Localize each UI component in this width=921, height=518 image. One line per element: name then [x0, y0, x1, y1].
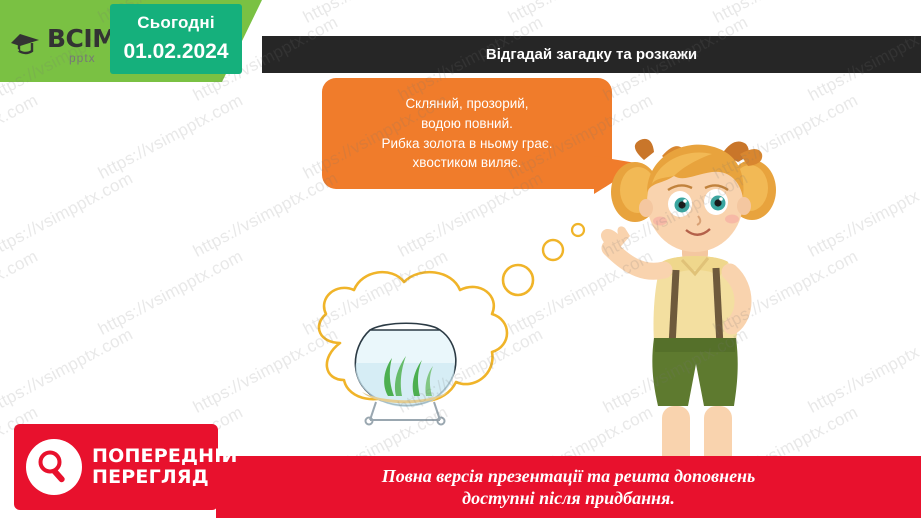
magnifier-icon [26, 439, 82, 495]
footer-line-1: Повна версія презентації та решта доповн… [382, 465, 756, 488]
watermark-text: https://vsimpptx.com [300, 0, 451, 28]
today-label: Сьогодні [110, 13, 242, 33]
logo-text: BCIM [47, 24, 117, 53]
watermark-text: https://vsimpptx.com [505, 0, 656, 28]
today-date-box: Сьогодні 01.02.2024 [110, 4, 242, 74]
page-title: Відгадай загадку та розкажи [486, 46, 697, 63]
thought-dots-icon [498, 218, 608, 308]
today-date-value: 01.02.2024 [110, 40, 242, 64]
riddle-text: Скляний, прозорий, водою повний. Рибка з… [382, 94, 553, 172]
preview-badge-line-1: ПОПЕРЕДНІЙ [92, 445, 238, 467]
preview-badge-line-2: ПЕРЕГЛЯД [92, 466, 209, 488]
watermark-text: https://vsimpptx.com [710, 0, 861, 28]
watermark-text: https://vsimpptx.com [805, 168, 921, 261]
watermark-text: https://vsimpptx.com [95, 246, 246, 339]
riddle-speech-bubble: Скляний, прозорий, водою повний. Рибка з… [322, 78, 612, 189]
slide-title-bar: Відгадай загадку та розкажи [262, 36, 921, 73]
logo-cap-icon [6, 30, 42, 60]
thought-cloud [280, 248, 580, 453]
footer-line-2: доступні після придбання. [462, 487, 675, 510]
watermark-text: https://vsimpptx.com [0, 168, 136, 261]
watermark-text: https://vsimpptx.com [0, 90, 41, 183]
preview-badge[interactable]: ПОПЕРЕДНІЙ ПЕРЕГЛЯД [14, 424, 218, 510]
footer-bar: Повна версія презентації та решта доповн… [216, 456, 921, 518]
fishbowl-illustration [340, 308, 470, 428]
site-logo[interactable]: BCIM pptx [6, 26, 117, 64]
watermark-text: https://vsimpptx.com [805, 324, 921, 417]
watermark-text: https://vsimpptx.com [0, 324, 136, 417]
watermark-text: https://vsimpptx.com [95, 90, 246, 183]
watermark-text: https://vsimpptx.com [0, 246, 41, 339]
